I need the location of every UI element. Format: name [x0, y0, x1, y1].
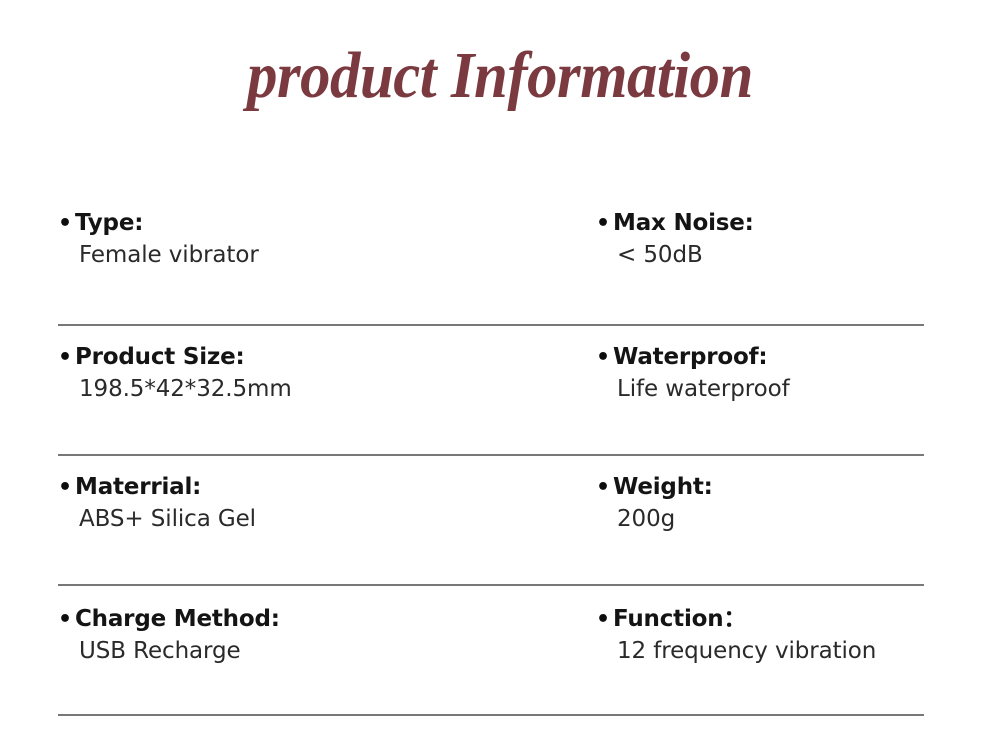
spec-cell-right: •Weight: 200g — [596, 472, 996, 535]
spec-value: Female vibrator — [58, 239, 558, 271]
spec-cell-left: •Charge Method: USB Recharge — [58, 604, 558, 667]
bullet-icon: • — [596, 343, 613, 373]
spec-label: •Type: — [58, 208, 558, 239]
bullet-icon: • — [58, 473, 75, 503]
spec-label-text: Waterproof: — [613, 344, 767, 370]
spec-label: •Function： — [596, 604, 996, 635]
spec-label: •Max Noise: — [596, 208, 996, 239]
spec-row: •Charge Method: USB Recharge •Function： … — [0, 586, 1000, 716]
bullet-icon: • — [596, 473, 613, 503]
spec-label-text: Weight: — [613, 474, 713, 500]
spec-value: ABS+ Silica Gel — [58, 503, 558, 535]
spec-label-text: Materrial: — [75, 474, 201, 500]
spec-label-text: Function： — [613, 606, 746, 632]
spec-cell-left: •Product Size: 198.5*42*32.5mm — [58, 342, 558, 405]
spec-cell-right: •Max Noise: < 50dB — [596, 208, 996, 271]
spec-cell-left: •Type: Female vibrator — [58, 208, 558, 271]
spec-row: •Product Size: 198.5*42*32.5mm •Waterpro… — [0, 326, 1000, 456]
bullet-icon: • — [58, 209, 75, 239]
spec-label-text: Charge Method: — [75, 606, 280, 632]
bullet-icon: • — [58, 343, 75, 373]
bullet-icon: • — [58, 605, 75, 635]
spec-label-text: Max Noise: — [613, 210, 754, 236]
spec-cell-right: •Waterproof: Life waterproof — [596, 342, 996, 405]
spec-label-text: Product Size: — [75, 344, 245, 370]
spec-value: 12 frequency vibration — [596, 635, 996, 667]
bullet-icon: • — [596, 209, 613, 239]
spec-row: •Type: Female vibrator •Max Noise: < 50d… — [0, 196, 1000, 326]
spec-value: Life waterproof — [596, 373, 996, 405]
spec-label: •Charge Method: — [58, 604, 558, 635]
spec-label-text: Type: — [75, 210, 143, 236]
spec-value: < 50dB — [596, 239, 996, 271]
page-title: product Information — [40, 40, 960, 112]
spec-label: •Product Size: — [58, 342, 558, 373]
specification-table: •Type: Female vibrator •Max Noise: < 50d… — [0, 196, 1000, 716]
spec-row: •Materrial: ABS+ Silica Gel •Weight: 200… — [0, 456, 1000, 586]
row-divider — [58, 714, 924, 716]
spec-value: 200g — [596, 503, 996, 535]
spec-label: •Weight: — [596, 472, 996, 503]
spec-label: •Materrial: — [58, 472, 558, 503]
spec-value: 198.5*42*32.5mm — [58, 373, 558, 405]
spec-value: USB Recharge — [58, 635, 558, 667]
spec-cell-left: •Materrial: ABS+ Silica Gel — [58, 472, 558, 535]
bullet-icon: • — [596, 605, 613, 635]
product-information-page: product Information •Type: Female vibrat… — [0, 0, 1000, 732]
spec-cell-right: •Function： 12 frequency vibration — [596, 604, 996, 667]
spec-label: •Waterproof: — [596, 342, 996, 373]
